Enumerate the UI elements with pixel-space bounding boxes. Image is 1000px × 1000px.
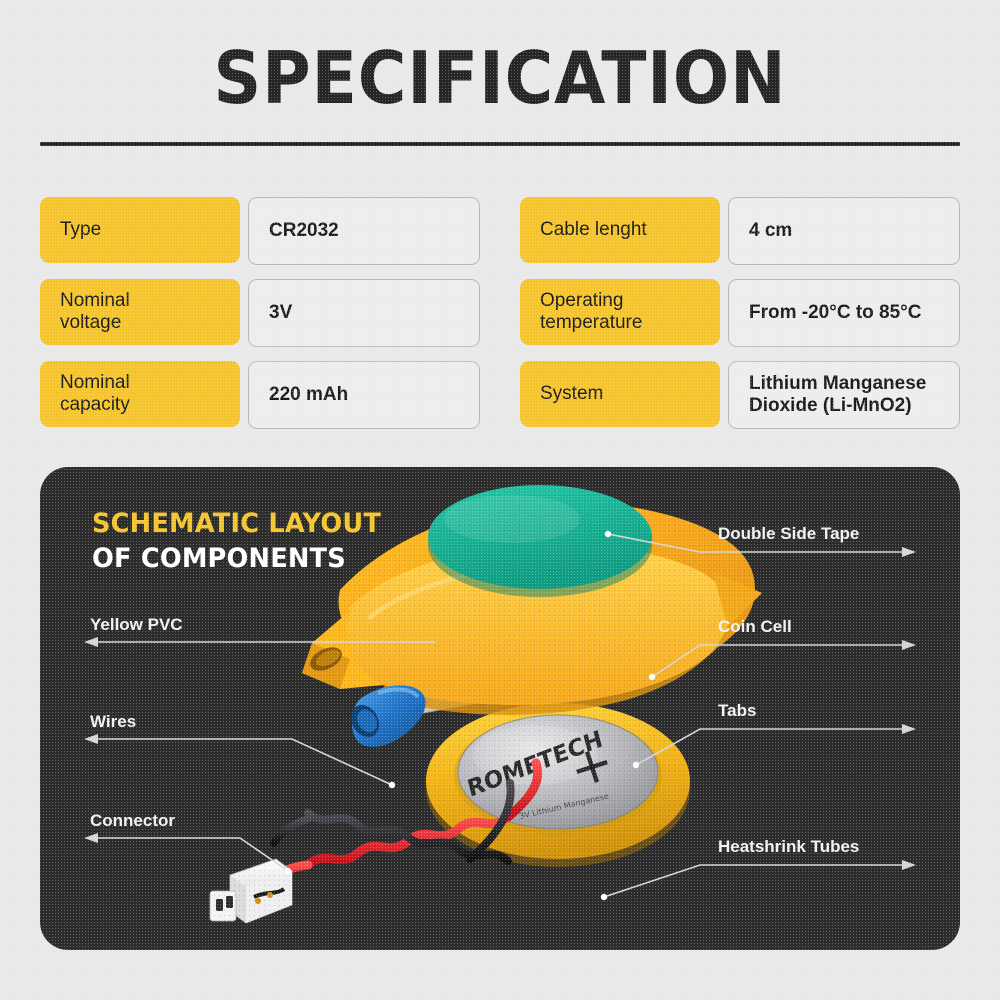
leader-coin-cell — [652, 645, 908, 677]
specification-page: SPECIFICATION Type CR2032 Cable lenght 4… — [0, 0, 1000, 1000]
anchor-dot-connector — [285, 868, 291, 874]
spec-label-type: Type — [40, 197, 240, 263]
arrowhead-left-yellow-pvc — [84, 637, 98, 647]
callout-label-wires: Wires — [90, 712, 136, 732]
spec-label-cable-lenght: Cable lenght — [520, 197, 720, 263]
spec-value-cable-lenght: 4 cm — [728, 197, 960, 265]
header-divider — [40, 142, 960, 146]
callout-label-double-side-tape: Double Side Tape — [718, 524, 859, 544]
leader-wires — [92, 739, 392, 785]
spec-label-nominal-voltage: Nominal voltage — [40, 279, 240, 345]
arrowhead-right-double-side-tape — [902, 547, 916, 557]
callout-label-tabs: Tabs — [718, 701, 756, 721]
schematic-panel: ROMETECH 3V Lithium Manganese — [40, 467, 960, 950]
spec-row-type: Type CR2032 — [40, 197, 480, 265]
spec-table: Type CR2032 Cable lenght 4 cm Nominal vo… — [40, 197, 960, 429]
spec-row-operating-temperature: Operating temperature From -20°C to 85°C — [520, 279, 960, 347]
callout-label-connector: Connector — [90, 811, 175, 831]
spec-row-cable-lenght: Cable lenght 4 cm — [520, 197, 960, 265]
callout-label-yellow-pvc: Yellow PVC — [90, 615, 183, 635]
spec-value-type: CR2032 — [248, 197, 480, 265]
anchor-dot-coin-cell — [649, 674, 655, 680]
leader-connector — [92, 838, 288, 871]
anchor-dot-wires — [389, 782, 395, 788]
arrowhead-left-wires — [84, 734, 98, 744]
spec-row-nominal-voltage: Nominal voltage 3V — [40, 279, 480, 347]
spec-row-system: System Lithium Manganese Dioxide (Li-MnO… — [520, 361, 960, 429]
spec-value-system: Lithium Manganese Dioxide (Li-MnO2) — [728, 361, 960, 429]
spec-label-operating-temperature: Operating temperature — [520, 279, 720, 345]
callout-label-heatshrink-tubes: Heatshrink Tubes — [718, 837, 859, 857]
arrowhead-left-connector — [84, 833, 98, 843]
anchor-dot-heatshrink-tubes — [601, 894, 607, 900]
leader-tabs — [636, 729, 908, 765]
page-title: SPECIFICATION — [40, 42, 960, 114]
spec-value-nominal-capacity: 220 mAh — [248, 361, 480, 429]
spec-value-operating-temperature: From -20°C to 85°C — [728, 279, 960, 347]
spec-label-system: System — [520, 361, 720, 427]
spec-value-nominal-voltage: 3V — [248, 279, 480, 347]
arrowhead-right-tabs — [902, 724, 916, 734]
arrowhead-right-heatshrink-tubes — [902, 860, 916, 870]
spec-row-nominal-capacity: Nominal capacity 220 mAh — [40, 361, 480, 429]
anchor-dot-tabs — [633, 762, 639, 768]
callout-label-coin-cell: Coin Cell — [718, 617, 792, 637]
leader-heatshrink-tubes — [604, 865, 908, 897]
spec-label-nominal-capacity: Nominal capacity — [40, 361, 240, 427]
arrowhead-right-coin-cell — [902, 640, 916, 650]
anchor-dot-double-side-tape — [605, 531, 611, 537]
